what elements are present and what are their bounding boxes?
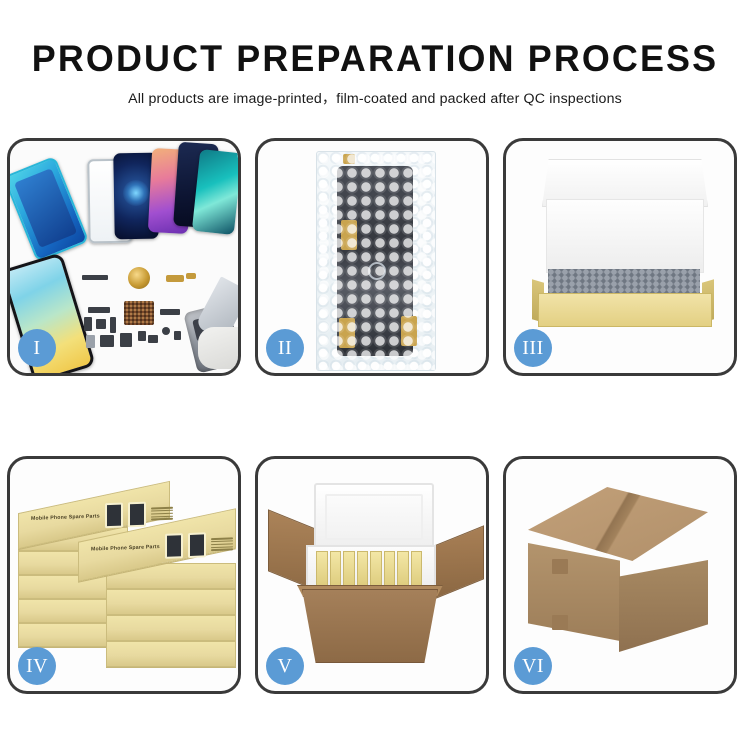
carton-left-face <box>528 543 620 641</box>
component-block-a <box>84 317 92 331</box>
component-block-g <box>148 335 158 343</box>
technician-hand <box>198 327 238 369</box>
inner-box-4 <box>357 551 369 589</box>
inner-box-5 <box>370 551 382 589</box>
process-step-panel-5[interactable]: V <box>255 456 489 694</box>
inner-box-3 <box>343 551 355 589</box>
process-step-panel-2[interactable]: II <box>255 138 489 376</box>
flex-cable-mid <box>341 220 357 250</box>
component-flex-a <box>88 307 110 313</box>
component-light-a <box>86 335 95 348</box>
inner-box-7 <box>397 551 409 589</box>
inner-box-6 <box>384 551 396 589</box>
retail-box-stack: Mobile Phone Spare Parts Mobile Phone Sp… <box>18 479 236 679</box>
box-label-front: Mobile Phone Spare Parts <box>91 531 233 561</box>
box-label-text-back: Mobile Phone Spare Parts <box>31 513 100 521</box>
foam-case-lid <box>314 483 434 551</box>
component-bar <box>82 275 108 280</box>
connector-grid-chip <box>124 301 154 325</box>
carton-right-face <box>619 560 708 652</box>
step-badge-2: II <box>266 329 304 367</box>
stack-box-r2 <box>106 589 236 615</box>
carton-tab-upper <box>552 559 568 574</box>
step-badge-4: IV <box>18 647 56 685</box>
component-block-f <box>138 331 146 341</box>
component-round-a <box>162 327 170 335</box>
box-label-text-front: Mobile Phone Spare Parts <box>91 544 160 552</box>
box-label-lines-front <box>211 538 233 551</box>
component-block-h <box>174 331 181 340</box>
step-badge-6: VI <box>514 647 552 685</box>
component-block-c <box>110 317 116 333</box>
box-label-lines-back <box>151 507 173 520</box>
bubble-wrap-bag <box>316 151 436 371</box>
page-title: PRODUCT PREPARATION PROCESS <box>11 40 739 77</box>
component-gold-strip <box>166 275 184 282</box>
speaker-coil-part <box>128 267 150 289</box>
box-label-chip-c <box>165 533 183 559</box>
carton-tab-lower <box>552 615 568 630</box>
process-step-grid: I II III <box>0 138 750 696</box>
process-step-panel-4[interactable]: Mobile Phone Spare Parts Mobile Phone Sp… <box>7 456 241 694</box>
component-block-e <box>120 333 132 347</box>
process-step-panel-6[interactable]: VI <box>503 456 737 694</box>
process-step-panel-3[interactable]: III <box>503 138 737 376</box>
box-label-chip-a <box>105 503 123 529</box>
page-header: PRODUCT PREPARATION PROCESS All products… <box>0 0 750 106</box>
white-foam-sheet <box>546 199 704 273</box>
box-label-chip-d <box>188 532 206 558</box>
inner-box-8 <box>411 551 423 589</box>
teal-screen-phone <box>192 149 238 235</box>
inner-box-1 <box>316 551 328 589</box>
page-subtitle: All products are image-printed，film-coat… <box>0 92 750 106</box>
inner-box-2 <box>330 551 342 589</box>
kraft-box-front <box>538 293 712 327</box>
process-step-panel-1[interactable]: I <box>7 138 241 376</box>
stack-box-r3 <box>106 615 236 641</box>
flex-cable-lower-right <box>401 316 417 346</box>
step-badge-3: III <box>514 329 552 367</box>
step-badge-1: I <box>18 329 56 367</box>
box-label-chip-b <box>128 502 146 528</box>
component-flex-b <box>160 309 180 315</box>
step-badge-5: V <box>266 647 304 685</box>
flex-cable-lower-left <box>339 318 355 348</box>
component-block-d <box>100 335 114 347</box>
component-gold-tab <box>186 273 196 279</box>
flex-cable-top <box>343 154 355 164</box>
carton-front-wall <box>302 589 438 663</box>
yellow-boxes-inside <box>316 551 422 589</box>
component-block-b <box>96 319 106 329</box>
stack-box-r4 <box>106 641 236 667</box>
